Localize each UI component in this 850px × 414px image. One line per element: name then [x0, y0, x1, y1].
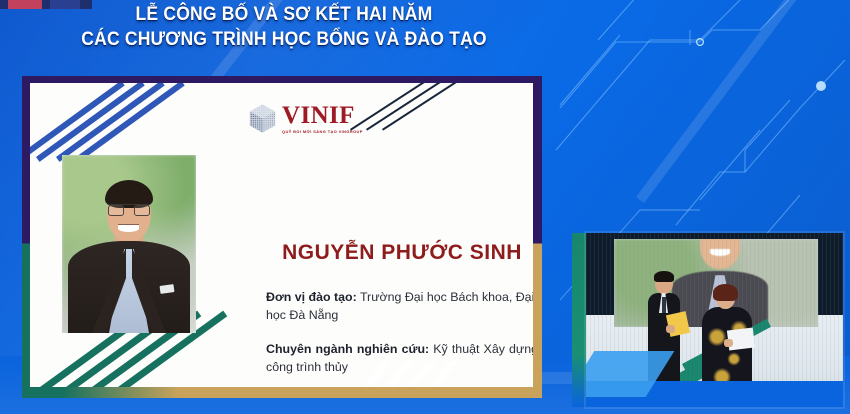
video-inset[interactable]: [586, 233, 843, 407]
detail-label-institution: Đơn vị đào tạo:: [266, 290, 357, 304]
avatar-glasses-icon: [108, 204, 150, 215]
detail-row-institution: Đơn vị đào tạo: Trường Đại học Bách khoa…: [266, 289, 533, 324]
title-line-2: CÁC CHƯƠNG TRÌNH HỌC BỔNG VÀ ĐÀO TẠO: [28, 27, 539, 52]
detail-row-major: Chuyên ngành nghiên cứu: Kỹ thuật Xây dự…: [266, 341, 533, 376]
detail-label-major: Chuyên ngành nghiên cứu:: [266, 342, 429, 356]
candidate-name: NGUYỄN PHƯỚC SINH: [262, 241, 533, 265]
decor-stripe-topright: [350, 83, 443, 130]
vinif-letter-v: V: [282, 102, 300, 129]
page-title: LỄ CÔNG BỐ VÀ SƠ KẾT HAI NĂM CÁC CHƯƠNG …: [0, 2, 568, 52]
chrome-accent-blue: [50, 0, 80, 9]
vinif-letters-inif: INIF: [300, 102, 354, 129]
vinif-wordmark: VINIF QUỸ ĐỔI MỚI SÁNG TẠO VINGROUP: [282, 103, 363, 134]
chrome-accent-red: [8, 0, 42, 9]
slide-content: VINIF QUỸ ĐỔI MỚI SÁNG TẠO VINGROUP: [30, 83, 533, 387]
broadcast-frame: LỄ CÔNG BỐ VÀ SƠ KẾT HAI NĂM CÁC CHƯƠNG …: [0, 0, 850, 414]
avatar-smile: [118, 225, 139, 232]
video-stage-front-band: [586, 381, 843, 407]
title-line-1: LỄ CÔNG BỐ VÀ SƠ KẾT HAI NĂM: [28, 2, 539, 27]
candidate-details: Đơn vị đào tạo: Trường Đại học Bách khoa…: [266, 289, 533, 387]
avatar: [62, 155, 196, 333]
vinif-tagline: QUỸ ĐỔI MỚI SÁNG TẠO VINGROUP: [282, 130, 363, 134]
vinif-cube-icon: [248, 103, 277, 134]
presentation-slide: VINIF QUỸ ĐỔI MỚI SÁNG TẠO VINGROUP: [22, 76, 542, 398]
vinif-word: VINIF: [282, 103, 363, 128]
vinif-logo: VINIF QUỸ ĐỔI MỚI SÁNG TẠO VINGROUP: [248, 103, 363, 134]
